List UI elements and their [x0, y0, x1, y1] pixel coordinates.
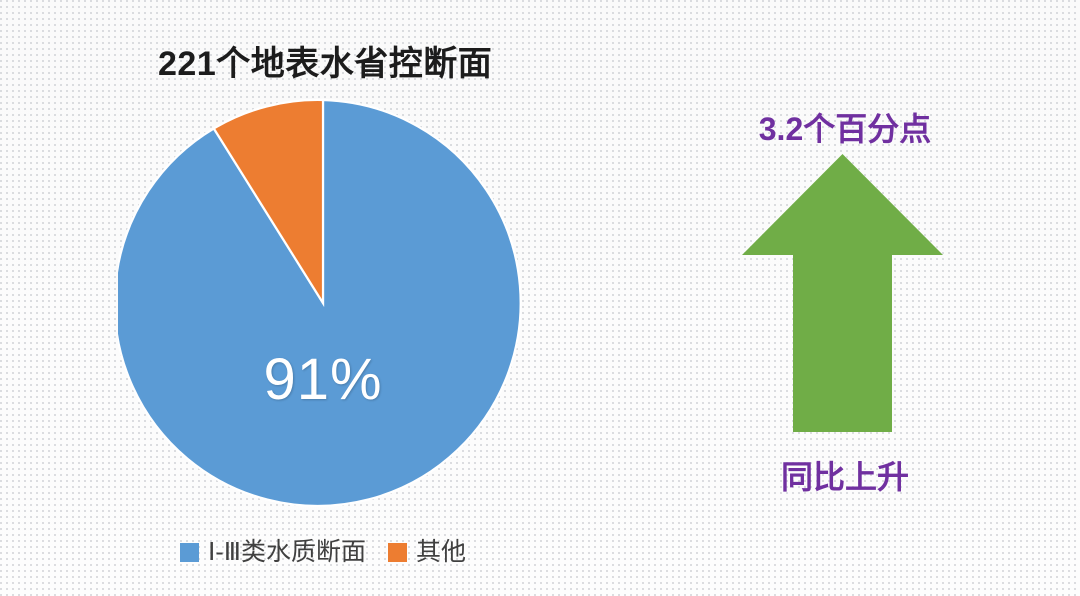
chart-legend: Ⅰ-Ⅲ类水质断面 其他 — [118, 540, 528, 565]
trend-caption-label: 同比上升 — [700, 452, 990, 498]
trend-value-label: 3.2个百分点 — [700, 104, 990, 150]
legend-item-orange[interactable]: 其他 — [388, 540, 466, 565]
legend-item-blue[interactable]: Ⅰ-Ⅲ类水质断面 — [180, 540, 366, 565]
up-arrow-icon — [735, 148, 950, 438]
legend-label-orange: 其他 — [416, 540, 466, 565]
pie-chart — [118, 98, 528, 508]
legend-label-blue: Ⅰ-Ⅲ类水质断面 — [208, 540, 366, 565]
legend-swatch-blue-icon — [180, 543, 199, 562]
up-arrow-polygon — [742, 154, 943, 432]
page-title: 221个地表水省控断面 — [158, 36, 492, 85]
legend-swatch-orange-icon — [388, 543, 407, 562]
